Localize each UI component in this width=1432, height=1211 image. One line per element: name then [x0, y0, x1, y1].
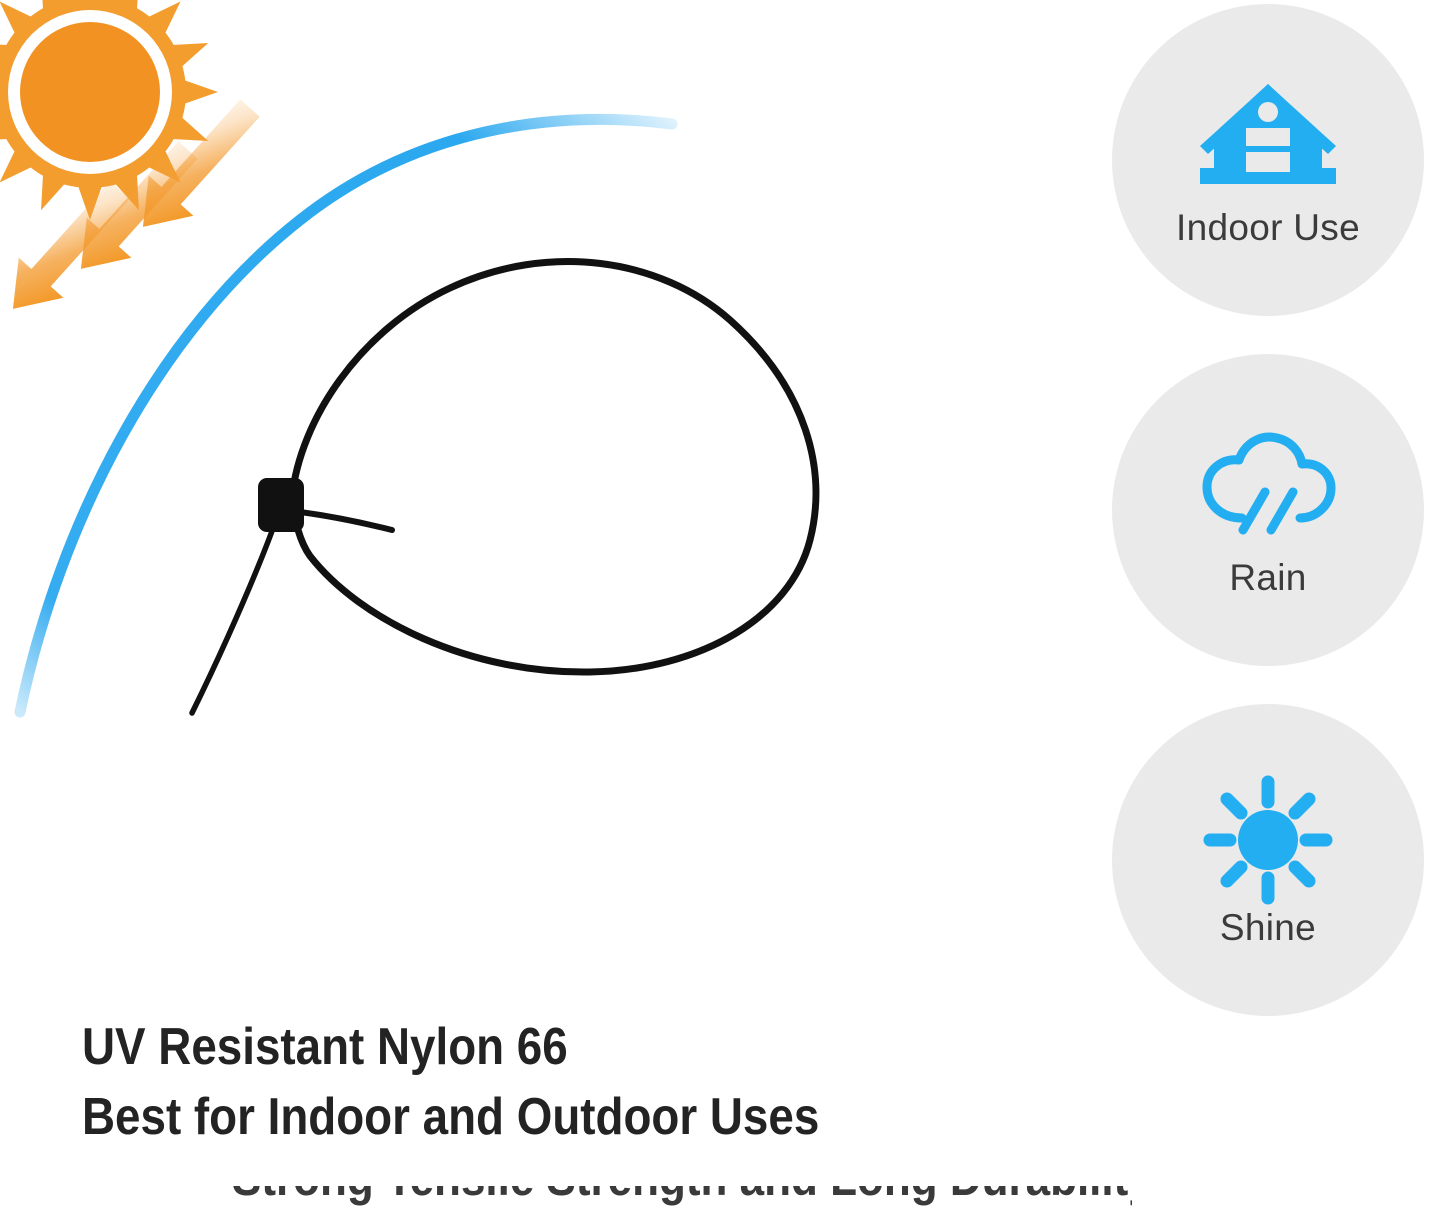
- headline-line-3: Strong Tensile Strength and Long Durabil…: [232, 1186, 1024, 1211]
- black-nylon-cable-tie: [192, 262, 816, 713]
- headline-block: UV Resistant Nylon 66 Best for Indoor an…: [82, 1012, 1062, 1152]
- feature-badge-label: Indoor Use: [1176, 209, 1360, 246]
- headline-line-2: Best for Indoor and Outdoor Uses: [82, 1082, 944, 1152]
- headline-line-3-cut-off: Strong Tensile Strength and Long Durabil…: [232, 1186, 1132, 1211]
- house-icon: [1193, 75, 1343, 205]
- uv-resistant-cable-tie-illustration: [0, 0, 1090, 1000]
- feature-badge-list: Indoor Use Rain: [1112, 0, 1432, 1020]
- sun-shine-icon: [1193, 775, 1343, 905]
- rain-cloud-icon: [1193, 425, 1343, 555]
- feature-badge-label: Rain: [1229, 559, 1306, 596]
- headline-line-1: UV Resistant Nylon 66: [82, 1012, 944, 1082]
- feature-badge-indoor-use[interactable]: Indoor Use: [1112, 4, 1424, 316]
- feature-badge-label: Shine: [1220, 909, 1316, 946]
- feature-badge-rain[interactable]: Rain: [1112, 354, 1424, 666]
- feature-badge-shine[interactable]: Shine: [1112, 704, 1424, 1016]
- product-infographic-page: Indoor Use Rain: [0, 0, 1432, 1211]
